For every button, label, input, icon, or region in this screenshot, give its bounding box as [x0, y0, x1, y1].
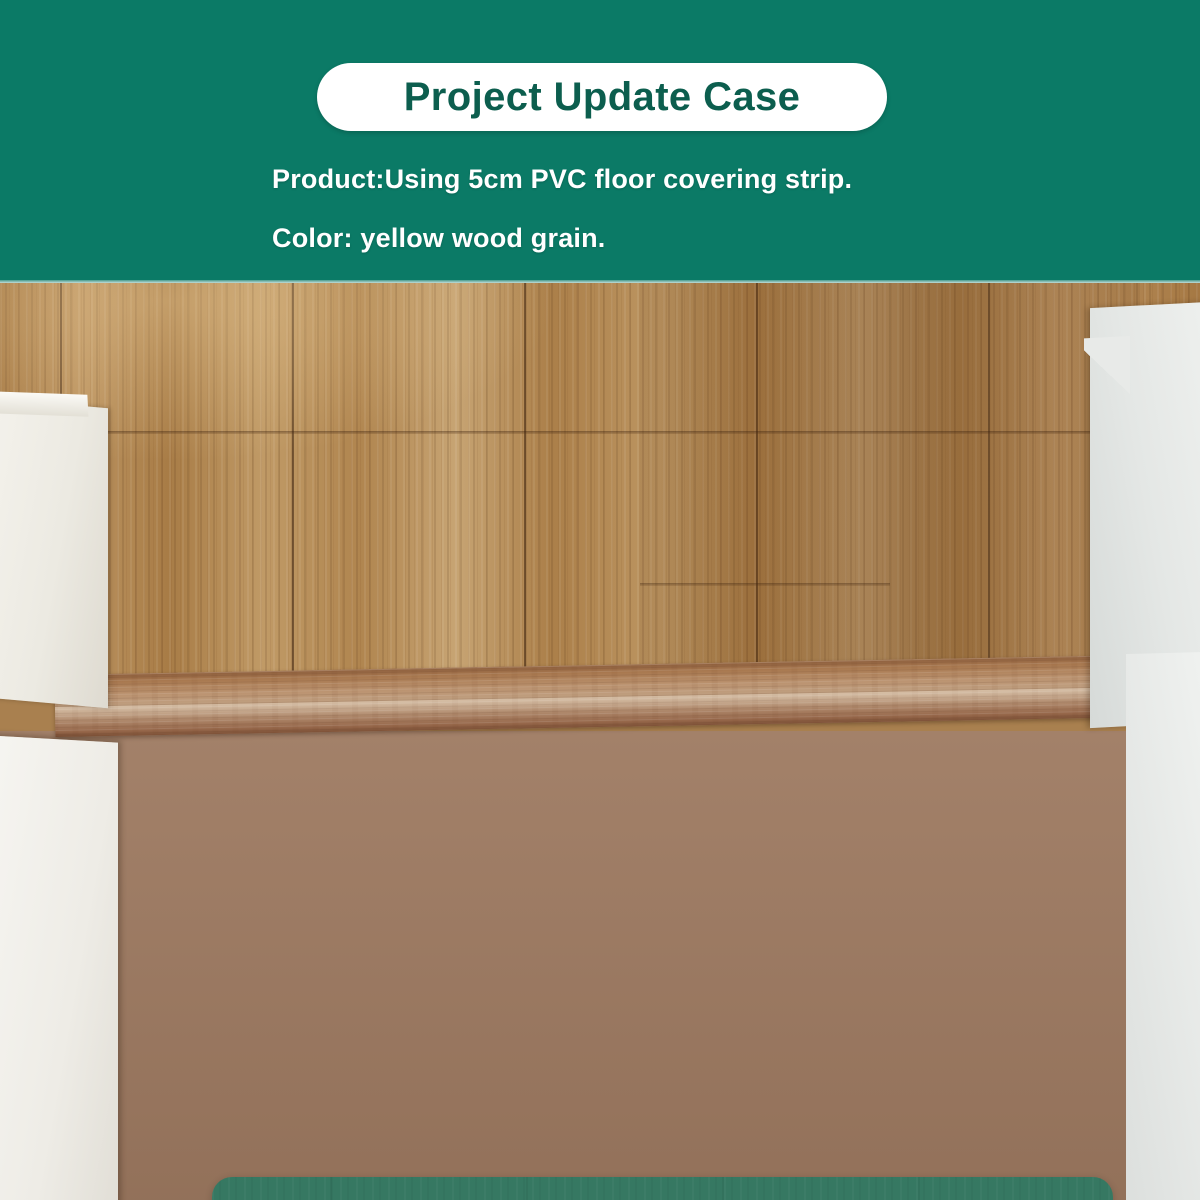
- left-white-baseboard: [0, 398, 108, 708]
- left-baseboard-trim: [0, 391, 89, 417]
- upper-wood-floor: [0, 283, 1200, 683]
- right-white-wall-lower: [1126, 652, 1200, 1200]
- title-pill: Project Update Case: [317, 63, 887, 131]
- lower-floor-shadow: [0, 731, 1200, 1200]
- header-banner: Project Update Case Product:Using 5cm PV…: [0, 0, 1200, 283]
- lower-wood-floor: [0, 731, 1200, 1200]
- strip-highlight: [55, 687, 1165, 721]
- plank-seam-upper: [0, 431, 1200, 434]
- header-product-line: Product:Using 5cm PVC floor covering str…: [272, 164, 852, 195]
- product-photo: We provide 4 colors for you to choose, y…: [0, 283, 1200, 1200]
- note-wood-texture: [212, 1177, 1113, 1200]
- product-marketing-image: Project Update Case Product:Using 5cm PV…: [0, 0, 1200, 1200]
- page-title: Project Update Case: [404, 77, 801, 117]
- plank-seam-upper-right: [640, 583, 890, 586]
- left-white-cabinet: [0, 735, 118, 1200]
- note-overlay-box: We provide 4 colors for you to choose, y…: [212, 1177, 1113, 1200]
- right-wall-bevel: [1084, 336, 1130, 408]
- header-color-line: Color: yellow wood grain.: [272, 223, 606, 254]
